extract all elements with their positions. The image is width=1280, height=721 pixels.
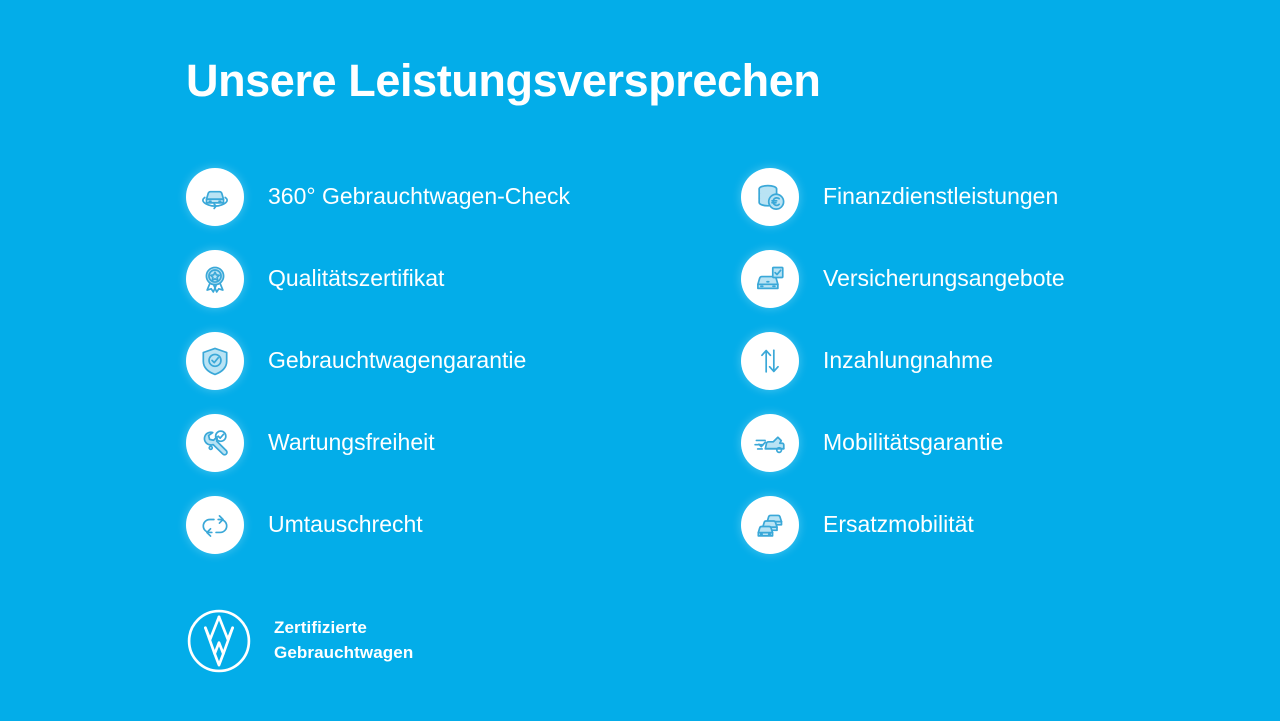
car-document-check-icon — [741, 250, 799, 308]
promise-item[interactable]: Ersatzmobilität — [741, 496, 1186, 554]
promise-label: Mobilitätsgarantie — [823, 429, 1003, 457]
wrench-gear-icon — [186, 414, 244, 472]
two-cars-icon — [741, 496, 799, 554]
promise-label: Versicherungsangebote — [823, 265, 1065, 293]
promise-item[interactable]: Inzahlungnahme — [741, 332, 1186, 390]
promise-label: Ersatzmobilität — [823, 511, 974, 539]
exchange-arrows-icon — [186, 496, 244, 554]
promise-label: Gebrauchtwagengarantie — [268, 347, 526, 375]
promise-item[interactable]: Qualitätszertifikat — [186, 250, 741, 308]
volkswagen-logo — [186, 608, 252, 674]
award-medal-star-icon — [186, 250, 244, 308]
brand-lockup-text: Zertifizierte Gebrauchtwagen — [274, 616, 413, 665]
car-360-check-icon — [186, 168, 244, 226]
arrows-up-down-icon — [741, 332, 799, 390]
shield-check-icon — [186, 332, 244, 390]
promise-item[interactable]: Versicherungsangebote — [741, 250, 1186, 308]
promise-item[interactable]: Umtauschrecht — [186, 496, 741, 554]
promise-item[interactable]: Mobilitätsgarantie — [741, 414, 1186, 472]
car-motion-icon — [741, 414, 799, 472]
promises-column-left: 360° Gebrauchtwagen-Check Qualitätszerti… — [186, 168, 741, 554]
promise-item[interactable]: Gebrauchtwagengarantie — [186, 332, 741, 390]
promises-columns: 360° Gebrauchtwagen-Check Qualitätszerti… — [186, 168, 1186, 554]
promise-label: Finanzdienstleistungen — [823, 183, 1058, 211]
promises-column-right: Finanzdienstleistungen Versicherungsange… — [741, 168, 1186, 554]
promise-label: Wartungsfreiheit — [268, 429, 435, 457]
promise-item[interactable]: Finanzdienstleistungen — [741, 168, 1186, 226]
promise-item[interactable]: 360° Gebrauchtwagen-Check — [186, 168, 741, 226]
promises-slide: Unsere Leistungsversprechen 360° Gebrauc… — [0, 0, 1280, 721]
promise-label: Inzahlungnahme — [823, 347, 993, 375]
promise-label: 360° Gebrauchtwagen-Check — [268, 183, 570, 211]
promise-label: Qualitätszertifikat — [268, 265, 444, 293]
coins-euro-icon — [741, 168, 799, 226]
promise-label: Umtauschrecht — [268, 511, 423, 539]
promise-item[interactable]: Wartungsfreiheit — [186, 414, 741, 472]
brand-lockup: Zertifizierte Gebrauchtwagen — [186, 608, 413, 674]
page-title: Unsere Leistungsversprechen — [186, 55, 820, 107]
